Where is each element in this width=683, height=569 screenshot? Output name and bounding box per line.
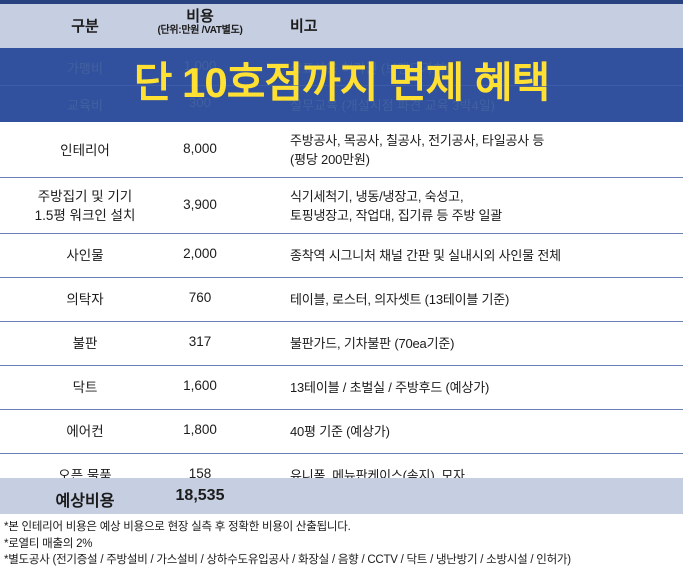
row-remark: 상표사용 허가권 (브랜드가치) <box>290 58 449 77</box>
table-header-row: 구분 비용 (단위:만원 /VAT별도) 비고 <box>0 4 683 48</box>
row-remark-line-1: 식기세척기, 냉동/냉장고, 숙성고, <box>290 187 677 206</box>
column-header-cost: 비용 (단위:만원 /VAT별도) <box>145 8 255 37</box>
table-row-air-conditioner: 에어컨 1,800 40평 기준 (예상가) <box>0 410 683 454</box>
table-row-duct: 닥트 1,600 13테이블 / 초벌실 / 주방후드 (예상가) <box>0 366 683 410</box>
footnotes-block: *본 인테리어 비용은 예상 비용으로 현장 실측 후 정확한 비용이 산출됩니… <box>4 519 683 569</box>
table-body: 인테리어 8,000 주방공사, 목공사, 칠공사, 전기공사, 타일공사 등 … <box>0 122 683 498</box>
row-cost: 760 <box>145 290 255 305</box>
row-remark: 테이블, 로스터, 의자셋트 (13테이블 기준) <box>290 290 677 309</box>
footnote-interior-estimate: *본 인테리어 비용은 예상 비용으로 현장 실측 후 정확한 비용이 산출됩니… <box>4 519 683 536</box>
row-cost: 8,000 <box>145 141 255 156</box>
column-header-cost-unit: (단위:만원 /VAT별도) <box>145 25 255 37</box>
table-row-kitchen-equipment: 주방집기 및 기기 1.5평 워크인 설치 3,900 식기세척기, 냉동/냉장… <box>0 178 683 234</box>
summary-row: 예상비용 18,535 <box>0 478 683 514</box>
column-header-remark: 비고 <box>290 15 318 36</box>
row-cost: 1,000 <box>145 58 255 73</box>
row-cost: 1,600 <box>145 378 255 393</box>
row-remark: 40평 기준 (예상가) <box>290 422 677 441</box>
column-header-cost-main: 비용 <box>145 8 255 25</box>
row-remark: 종착역 시그니처 채널 간판 및 실내시외 사인물 전체 <box>290 246 677 265</box>
row-remark-line-1: 주방공사, 목공사, 칠공사, 전기공사, 타일공사 등 <box>290 131 677 150</box>
row-cost: 300 <box>145 95 255 110</box>
franchise-cost-table-sheet: 구분 비용 (단위:만원 /VAT별도) 비고 가맹비 1,000 상표사용 허… <box>0 0 683 569</box>
row-cost: 3,900 <box>145 197 255 212</box>
footnote-royalty: *로열티 매출의 2% <box>4 536 683 553</box>
row-remark-line-2: 토핑냉장고, 작업대, 집기류 등 주방 일괄 <box>290 206 677 225</box>
row-remark: 실무교육 (개설시점 파견 교육 3박4일) <box>290 95 495 114</box>
footnote-separate-construction: *별도공사 (전기증설 / 주방설비 / 가스설비 / 상하수도유입공사 / 화… <box>4 552 683 569</box>
table-row-grill-plate: 불판 317 불판가드, 기차불판 (70ea기준) <box>0 322 683 366</box>
row-cost: 2,000 <box>145 246 255 261</box>
table-row-tables-chairs: 의탁자 760 테이블, 로스터, 의자셋트 (13테이블 기준) <box>0 278 683 322</box>
row-remark: 13테이블 / 초벌실 / 주방후드 (예상가) <box>290 378 677 397</box>
row-cost: 317 <box>145 334 255 349</box>
row-cost: 1,800 <box>145 422 255 437</box>
row-remark: 불판가드, 기차불판 (70ea기준) <box>290 334 677 353</box>
summary-total-value: 18,535 <box>145 487 255 505</box>
table-row-interior: 인테리어 8,000 주방공사, 목공사, 칠공사, 전기공사, 타일공사 등 … <box>0 122 683 178</box>
table-row-membership-fee: 가맹비 1,000 상표사용 허가권 (브랜드가치) <box>0 48 683 85</box>
row-remark-line-2: (평당 200만원) <box>290 150 677 169</box>
covered-rows-band: 가맹비 1,000 상표사용 허가권 (브랜드가치) 교육비 300 실무교육 … <box>0 48 683 122</box>
table-row-signage: 사인물 2,000 종착역 시그니처 채널 간판 및 실내시외 사인물 전체 <box>0 234 683 278</box>
table-row-training-fee: 교육비 300 실무교육 (개설시점 파견 교육 3박4일) <box>0 85 683 122</box>
